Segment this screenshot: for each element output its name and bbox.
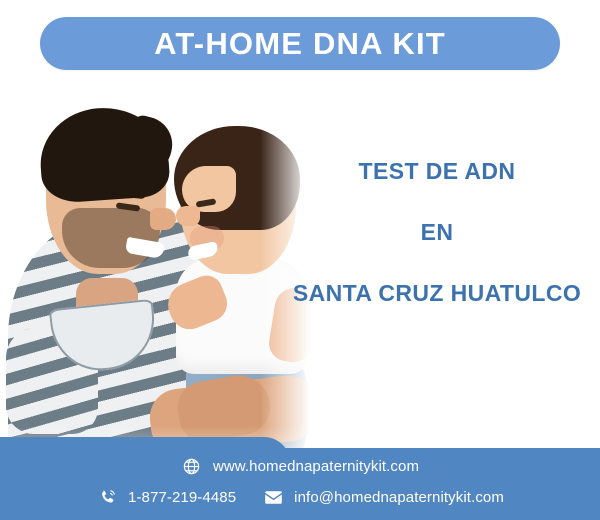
headline-line-3: SANTA CRUZ HUATULCO: [282, 282, 592, 305]
child-nose: [176, 206, 200, 226]
footer-website-text: www.homednapaternitykit.com: [213, 458, 419, 475]
headline-line-2: EN: [282, 221, 592, 244]
footer-website[interactable]: www.homednapaternitykit.com: [181, 455, 419, 477]
globe-icon: [181, 455, 203, 477]
headline-block: TEST DE ADN EN SANTA CRUZ HUATULCO: [282, 160, 592, 305]
footer-phone[interactable]: 1-877-219-4485: [96, 486, 236, 508]
phone-icon: [96, 486, 118, 508]
footer-row-phone-email: 1-877-219-4485 info@homednapaternitykit.…: [0, 486, 600, 508]
headline-line-1: TEST DE ADN: [282, 160, 592, 183]
poster-canvas: AT-HOME DNA KIT TEST DE ADN: [0, 0, 600, 520]
footer-email-text: info@homednapaternitykit.com: [294, 489, 504, 506]
man-nose: [150, 208, 176, 230]
footer-email[interactable]: info@homednapaternitykit.com: [262, 486, 504, 508]
footer-row-website: www.homednapaternitykit.com: [0, 455, 600, 477]
banner-pill: AT-HOME DNA KIT: [40, 17, 560, 70]
family-photo: [0, 82, 330, 460]
footer-phone-text: 1-877-219-4485: [128, 489, 236, 506]
envelope-icon: [262, 486, 284, 508]
banner-title: AT-HOME DNA KIT: [154, 28, 446, 59]
footer-contact-bar: www.homednapaternitykit.com 1-877-219-44…: [0, 443, 600, 520]
man-beard: [62, 208, 160, 268]
